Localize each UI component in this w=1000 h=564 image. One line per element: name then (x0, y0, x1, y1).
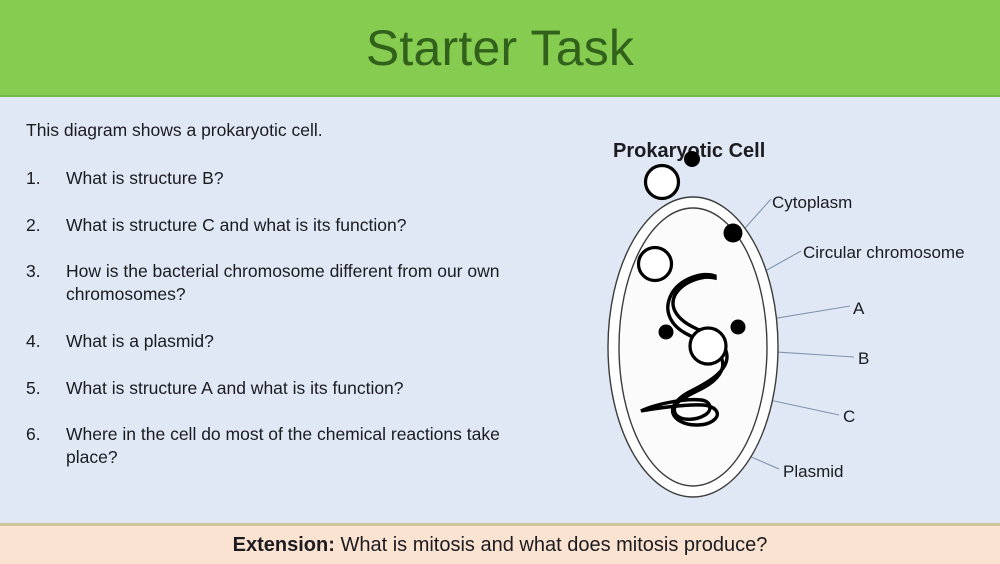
diagram-label-c: C (843, 408, 855, 425)
question-number: 3. (26, 260, 66, 283)
question-number: 1. (26, 167, 66, 190)
question-item-1: 1. What is structure B? (26, 167, 571, 190)
question-text: What is structure C and what is its func… (66, 214, 406, 237)
question-text: What is structure A and what is its func… (66, 377, 404, 400)
plasmid-circle-top (646, 166, 679, 199)
question-number: 6. (26, 423, 66, 446)
extension-banner: Extension: What is mitosis and what does… (0, 523, 1000, 564)
leader-line-c (765, 399, 839, 415)
question-item-6: 6. Where in the cell do most of the chem… (26, 423, 571, 469)
question-number: 5. (26, 377, 66, 400)
prokaryotic-cell-figure (575, 99, 1000, 523)
diagram-label-circular-chromosome: Circular chromosome (803, 244, 965, 261)
question-number: 2. (26, 214, 66, 237)
question-item-4: 4. What is a plasmid? (26, 330, 571, 353)
title-banner: Starter Task (0, 0, 1000, 97)
ribosome-dot-a (724, 224, 743, 243)
question-text: What is a plasmid? (66, 330, 214, 353)
question-panel: This diagram shows a prokaryotic cell. 1… (26, 120, 571, 493)
diagram-panel: Prokaryotic Cell (575, 99, 1000, 523)
slide-body: This diagram shows a prokaryotic cell. 1… (0, 99, 1000, 523)
question-text: How is the bacterial chromosome differen… (66, 260, 536, 306)
page-title: Starter Task (366, 23, 634, 73)
question-item-3: 3. How is the bacterial chromosome diffe… (26, 260, 571, 306)
intro-text: This diagram shows a prokaryotic cell. (26, 120, 571, 142)
question-text: Where in the cell do most of the chemica… (66, 423, 536, 469)
question-item-2: 2. What is structure C and what is its f… (26, 214, 571, 237)
question-item-5: 5. What is structure A and what is its f… (26, 377, 571, 400)
ribosome-dot-top (684, 151, 700, 167)
extension-body: What is mitosis and what does mitosis pr… (335, 534, 767, 556)
diagram-label-cytoplasm: Cytoplasm (772, 194, 852, 211)
ribosome-dot-lower-left (659, 325, 674, 340)
diagram-label-a: A (853, 300, 864, 317)
extension-question: Extension: What is mitosis and what does… (233, 535, 768, 555)
plasmid-circle-bottom (690, 328, 726, 364)
ribosome-dot-lower-right (731, 320, 746, 335)
diagram-label-b: B (858, 350, 869, 367)
question-number: 4. (26, 330, 66, 353)
extension-label: Extension: (233, 534, 335, 556)
diagram-label-plasmid: Plasmid (783, 463, 843, 480)
plasmid-circle-middle (639, 248, 672, 281)
question-text: What is structure B? (66, 167, 224, 190)
